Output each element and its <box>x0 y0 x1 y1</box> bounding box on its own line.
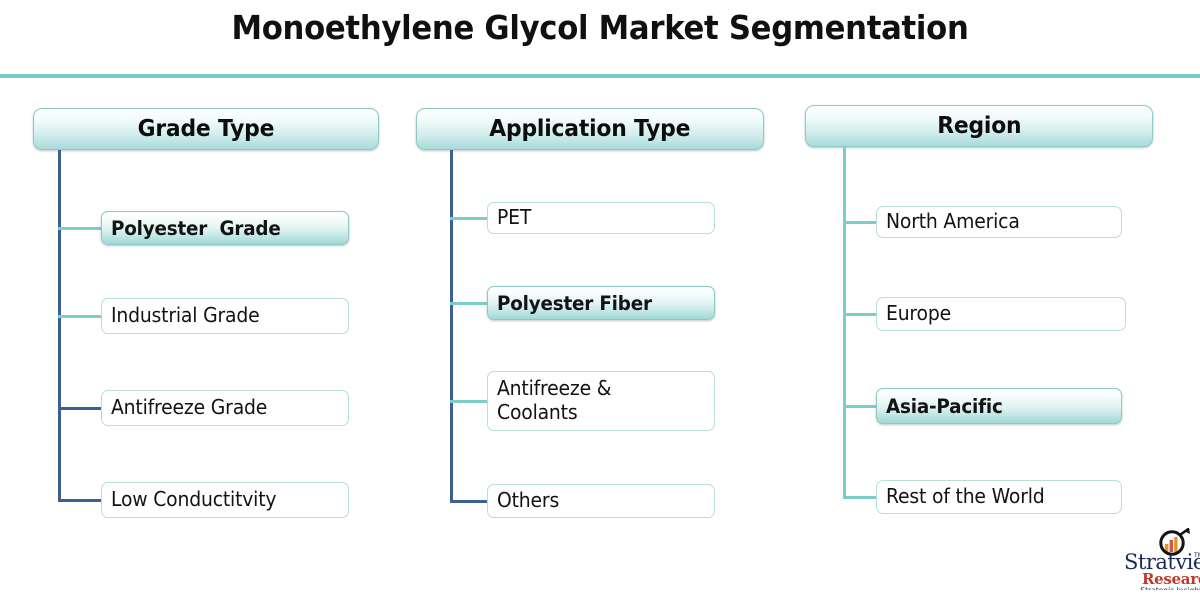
connector-branch <box>58 407 101 410</box>
column-header-3[interactable]: Region <box>805 105 1153 147</box>
title-bar: Monoethylene Glycol Market Segmentation <box>0 0 1200 76</box>
segment-item-label: Others <box>497 489 559 513</box>
connector-branch <box>450 500 487 503</box>
segment-item-label: Rest of the World <box>886 485 1045 509</box>
segment-item[interactable]: Antifreeze & Coolants <box>487 371 715 431</box>
stratview-research-logo: Stratview TM Research Strategic Insights… <box>1124 528 1200 590</box>
segment-item[interactable]: PET <box>487 202 715 234</box>
segment-item-label: Europe <box>886 302 951 326</box>
segment-item-label: Antifreeze Grade <box>111 396 267 420</box>
segment-item-label: Antifreeze & Coolants <box>497 377 611 424</box>
segment-item[interactable]: Low Conductitvity <box>101 482 349 518</box>
segment-item-label: Industrial Grade <box>111 304 259 328</box>
connector-branch <box>58 315 101 318</box>
segment-item[interactable]: Polyester Grade <box>101 211 349 245</box>
segment-item[interactable]: Europe <box>876 297 1126 331</box>
connector-branch <box>843 496 876 499</box>
segment-item[interactable]: Polyester Fiber <box>487 286 715 320</box>
column-header-label: Grade Type <box>138 116 275 142</box>
connector-branch <box>58 499 101 502</box>
segment-item-label: Polyester Grade <box>111 217 281 240</box>
segment-item-label: Polyester Fiber <box>497 292 652 315</box>
column-header-2[interactable]: Application Type <box>416 108 764 150</box>
column-header-label: Application Type <box>490 116 691 142</box>
page-title: Monoethylene Glycol Market Segmentation <box>42 8 1158 47</box>
logo-tagline: Strategic Insights Delivered <box>1140 586 1200 590</box>
segment-item-label: PET <box>497 206 531 230</box>
segment-item[interactable]: Rest of the World <box>876 480 1122 514</box>
column-header-label: Region <box>937 113 1021 139</box>
connector-branch <box>843 405 876 408</box>
segment-item[interactable]: Asia-Pacific <box>876 388 1122 424</box>
connector-branch <box>843 313 876 316</box>
connector-branch <box>450 400 487 403</box>
segment-item[interactable]: North America <box>876 206 1122 238</box>
connector-branch <box>58 227 101 230</box>
connector-branch <box>450 302 487 305</box>
connector-trunk-1 <box>58 150 61 500</box>
segment-item[interactable]: Antifreeze Grade <box>101 390 349 426</box>
segment-item-label: Asia-Pacific <box>886 395 1003 418</box>
logo-trademark: TM <box>1194 552 1200 559</box>
connector-trunk-2 <box>450 150 453 501</box>
segment-item[interactable]: Industrial Grade <box>101 298 349 334</box>
segment-item[interactable]: Others <box>487 484 715 518</box>
segment-item-label: Low Conductitvity <box>111 488 276 512</box>
connector-trunk-3 <box>843 147 846 497</box>
title-divider <box>0 74 1200 78</box>
column-header-1[interactable]: Grade Type <box>33 108 379 150</box>
connector-branch <box>450 217 487 220</box>
segment-item-label: North America <box>886 210 1020 234</box>
connector-branch <box>843 221 876 224</box>
